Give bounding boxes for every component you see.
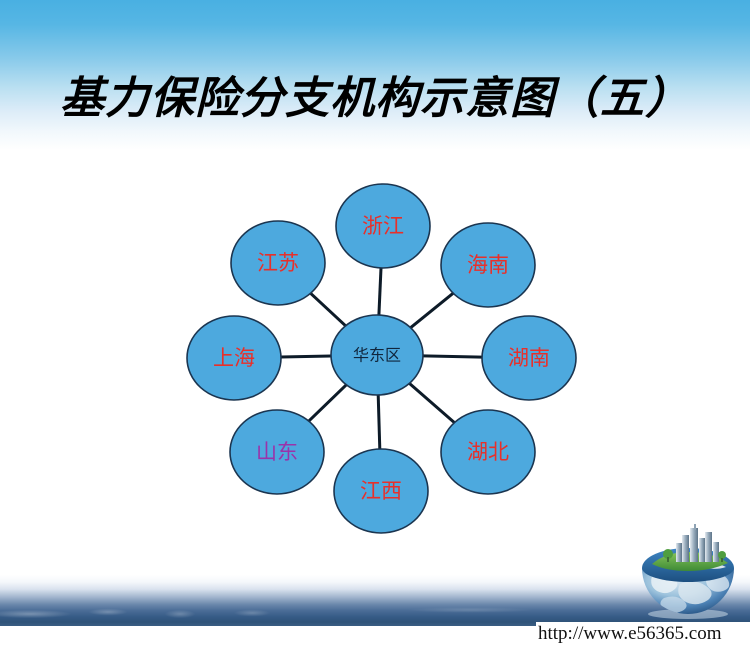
node-label-hubei: 湖北	[467, 440, 509, 464]
node-label-hunan: 湖南	[508, 346, 550, 370]
node-label-shandong: 山东	[256, 440, 298, 464]
connector-center-to-hainan	[411, 293, 454, 328]
diagram-node-zhejiang[interactable]: 浙江	[336, 184, 430, 268]
diagram-node-hubei[interactable]: 湖北	[441, 410, 535, 494]
footer-url: http://www.e56365.com	[536, 622, 750, 646]
globe-city-logo	[634, 524, 742, 622]
diagram-node-hainan[interactable]: 海南	[441, 223, 535, 307]
diagram-node-jiangxi[interactable]: 江西	[334, 449, 428, 533]
connector-center-to-zhejiang	[379, 268, 381, 315]
connector-center-to-jiangsu	[311, 293, 346, 326]
diagram-node-center[interactable]: 华东区	[331, 315, 423, 395]
connector-center-to-shandong	[309, 385, 347, 421]
page-title: 基力保险分支机构示意图（五）	[0, 62, 750, 126]
node-label-shanghai: 上海	[213, 346, 255, 370]
node-label-zhejiang: 浙江	[362, 214, 404, 238]
node-label-hainan: 海南	[467, 253, 509, 277]
diagram-node-shanghai[interactable]: 上海	[187, 316, 281, 400]
diagram-node-jiangsu[interactable]: 江苏	[231, 221, 325, 305]
diagram-node-shandong[interactable]: 山东	[230, 410, 324, 494]
node-label-center: 华东区	[353, 346, 401, 365]
org-diagram: 浙江海南湖南湖北江西山东上海江苏华东区	[175, 170, 590, 540]
connector-center-to-shanghai	[281, 356, 331, 357]
diagram-node-hunan[interactable]: 湖南	[482, 316, 576, 400]
diagram-nodes: 浙江海南湖南湖北江西山东上海江苏华东区	[187, 184, 576, 533]
slide-canvas: 基力保险分支机构示意图（五） 浙江海南湖南湖北江西山东上海江苏华东区	[0, 0, 750, 646]
connector-center-to-hubei	[409, 383, 454, 422]
connector-center-to-hunan	[423, 356, 482, 357]
node-label-jiangsu: 江苏	[257, 251, 299, 275]
node-label-jiangxi: 江西	[360, 479, 402, 503]
connector-center-to-jiangxi	[378, 395, 380, 449]
